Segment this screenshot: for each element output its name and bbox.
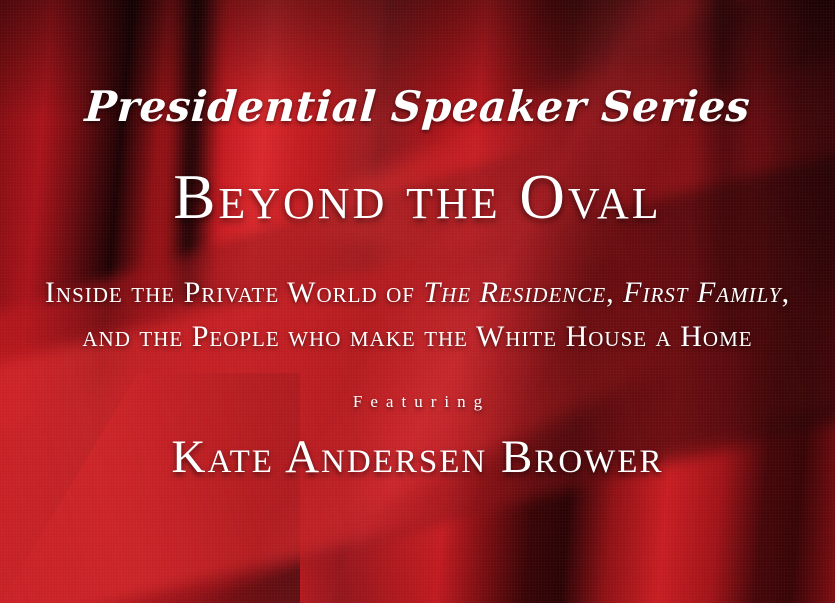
poster-content: Presidential Speaker Series Beyond the O… bbox=[0, 0, 835, 603]
subtitle-text-before: Inside the Private World of bbox=[45, 276, 424, 309]
poster-subtitle: Inside the Private World of The Residenc… bbox=[0, 271, 835, 359]
book-title-first-family: First Family bbox=[623, 276, 781, 309]
page-title: Beyond the Oval bbox=[0, 166, 835, 229]
series-kicker: Presidential Speaker Series bbox=[0, 86, 835, 128]
speaker-name: Kate Andersen Brower bbox=[0, 434, 835, 481]
subtitle-line-1: Inside the Private World of The Residenc… bbox=[0, 271, 835, 315]
book-title-the-residence: The Residence bbox=[423, 276, 606, 309]
event-poster: Presidential Speaker Series Beyond the O… bbox=[0, 0, 835, 603]
subtitle-separator: , bbox=[606, 276, 623, 309]
subtitle-line-2: and the People who make the White House … bbox=[0, 315, 835, 359]
subtitle-text-after: , bbox=[782, 276, 791, 309]
featuring-label: Featuring bbox=[0, 392, 835, 412]
